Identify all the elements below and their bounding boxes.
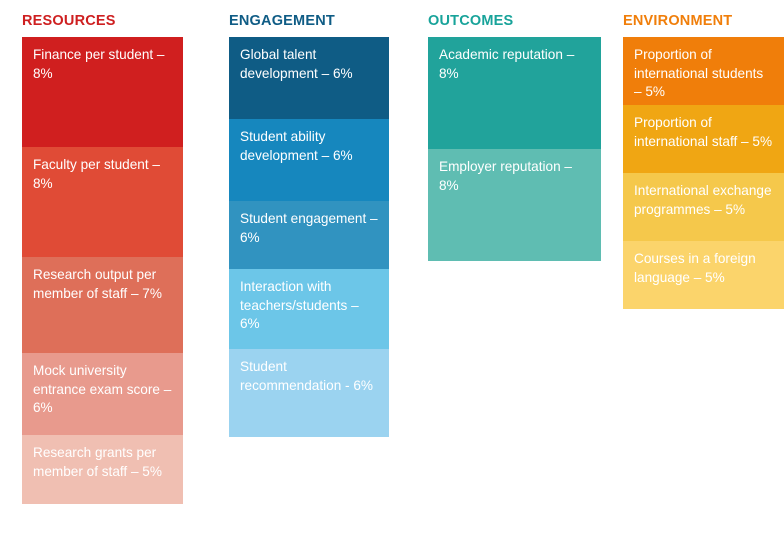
category-header-outcomes: OUTCOMES	[428, 14, 601, 30]
category-column-engagement: ENGAGEMENTGlobal talent development – 6%…	[229, 14, 389, 437]
indicator-label: Employer reputation – 8%	[439, 158, 591, 195]
indicator-stack-engagement: Global talent development – 6%Student ab…	[229, 37, 389, 437]
indicator-band[interactable]: Finance per student – 8%	[22, 37, 183, 147]
indicator-band[interactable]: Student engagement – 6%	[229, 201, 389, 269]
indicator-band[interactable]: Proportion of international students – 5…	[623, 37, 784, 105]
indicator-band[interactable]: Research output per member of staff – 7%	[22, 257, 183, 353]
indicator-label: Proportion of international staff – 5%	[634, 114, 774, 151]
indicator-band[interactable]: Courses in a foreign language – 5%	[623, 241, 784, 309]
category-header-engagement: ENGAGEMENT	[229, 14, 389, 30]
indicator-band[interactable]: Interaction with teachers/students – 6%	[229, 269, 389, 349]
category-column-resources: RESOURCESFinance per student – 8%Faculty…	[22, 14, 183, 504]
indicator-label: Proportion of international students – 5…	[634, 46, 774, 102]
indicator-band[interactable]: Research grants per member of staff – 5%	[22, 435, 183, 504]
indicator-label: Academic reputation – 8%	[439, 46, 591, 83]
indicator-label: Faculty per student – 8%	[33, 156, 173, 193]
indicator-label: Student engagement – 6%	[240, 210, 379, 247]
category-column-outcomes: OUTCOMESAcademic reputation – 8%Employer…	[428, 14, 601, 261]
indicator-label: Interaction with teachers/students – 6%	[240, 278, 379, 334]
indicator-label: Finance per student – 8%	[33, 46, 173, 83]
indicator-stack-outcomes: Academic reputation – 8%Employer reputat…	[428, 37, 601, 261]
category-column-environment: ENVIRONMENTProportion of international s…	[623, 14, 784, 309]
indicator-band[interactable]: Proportion of international staff – 5%	[623, 105, 784, 173]
indicator-label: Courses in a foreign language – 5%	[634, 250, 774, 287]
indicator-stack-resources: Finance per student – 8%Faculty per stud…	[22, 37, 183, 504]
indicator-label: Research output per member of staff – 7%	[33, 266, 173, 303]
indicator-band[interactable]: International exchange programmes – 5%	[623, 173, 784, 241]
indicator-band[interactable]: Faculty per student – 8%	[22, 147, 183, 257]
indicator-band[interactable]: Employer reputation – 8%	[428, 149, 601, 261]
indicator-band[interactable]: Academic reputation – 8%	[428, 37, 601, 149]
category-header-resources: RESOURCES	[22, 14, 183, 30]
indicator-band[interactable]: Global talent development – 6%	[229, 37, 389, 119]
indicator-weighting-chart: RESOURCESFinance per student – 8%Faculty…	[0, 0, 784, 533]
indicator-stack-environment: Proportion of international students – 5…	[623, 37, 784, 309]
category-header-environment: ENVIRONMENT	[623, 14, 784, 30]
indicator-band[interactable]: Student ability development – 6%	[229, 119, 389, 201]
indicator-label: Global talent development – 6%	[240, 46, 379, 83]
indicator-label: Student ability development – 6%	[240, 128, 379, 165]
indicator-band[interactable]: Mock university entrance exam score – 6%	[22, 353, 183, 435]
indicator-label: Student recommendation - 6%	[240, 358, 379, 395]
indicator-label: International exchange programmes – 5%	[634, 182, 774, 219]
category-columns: RESOURCESFinance per student – 8%Faculty…	[0, 14, 784, 504]
indicator-band[interactable]: Student recommendation - 6%	[229, 349, 389, 437]
indicator-label: Mock university entrance exam score – 6%	[33, 362, 173, 418]
indicator-label: Research grants per member of staff – 5%	[33, 444, 173, 481]
